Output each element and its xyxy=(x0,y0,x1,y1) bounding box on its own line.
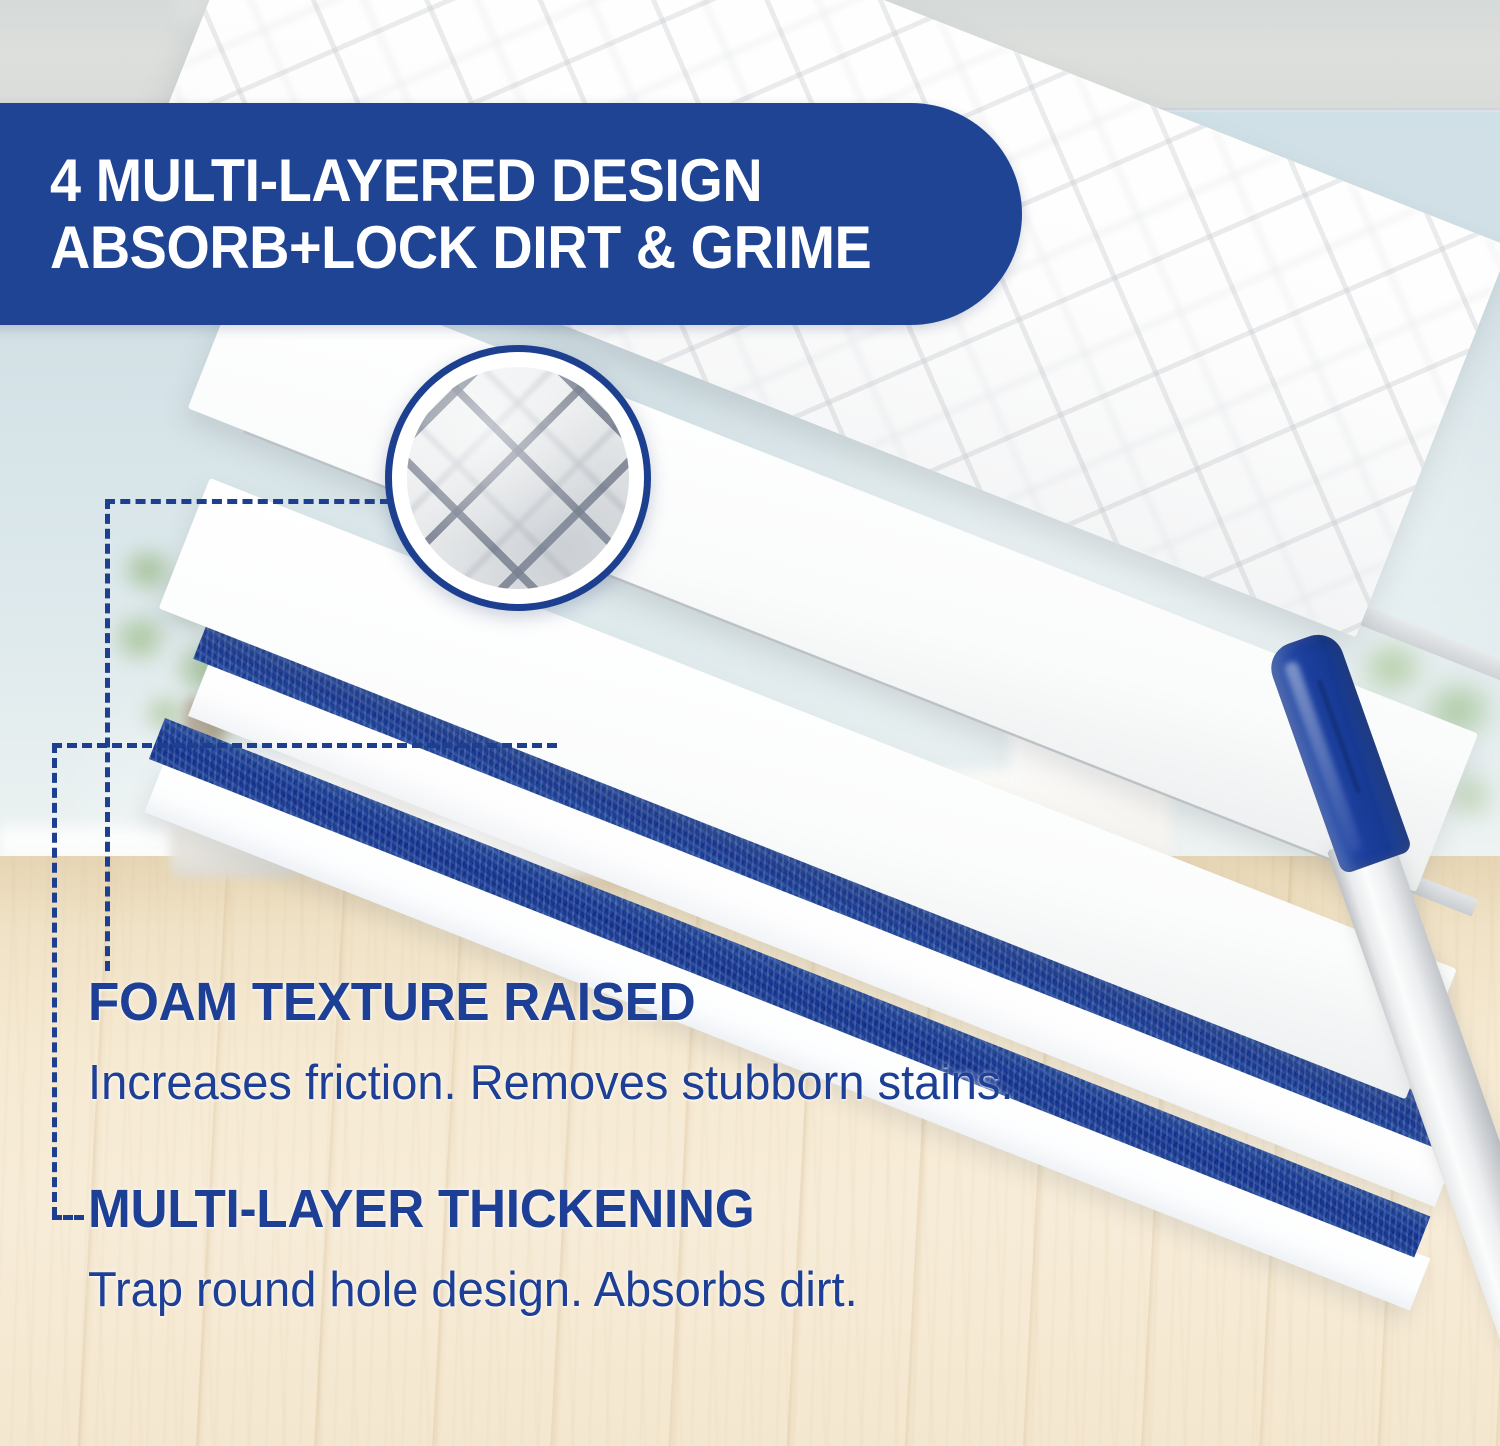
product-feature-graphic: 4 MULTI-LAYERED DESIGN ABSORB+LOCK DIRT … xyxy=(0,0,1500,1446)
magnifier-shading xyxy=(407,367,629,589)
headline-line-2: ABSORB+LOCK DIRT & GRIME xyxy=(50,214,871,281)
callout-upper-horizontal xyxy=(105,499,390,504)
magnifier-ring xyxy=(385,345,651,611)
headline-banner-text: 4 MULTI-LAYERED DESIGN ABSORB+LOCK DIRT … xyxy=(50,147,871,281)
feature-2-title: MULTI-LAYER THICKENING xyxy=(88,1182,850,1236)
callout-lower-vertical xyxy=(52,743,57,1217)
magnifier-lens xyxy=(407,367,629,589)
headline-banner: 4 MULTI-LAYERED DESIGN ABSORB+LOCK DIRT … xyxy=(0,103,1022,325)
headline-line-1: 4 MULTI-LAYERED DESIGN xyxy=(50,147,871,214)
feature-block-foam-texture: FOAM TEXTURE RAISED Increases friction. … xyxy=(88,975,1052,1108)
feature-1-title: FOAM TEXTURE RAISED xyxy=(88,975,1004,1029)
foam-texture-magnifier xyxy=(385,345,651,611)
feature-2-subtitle: Trap round hole design. Absorbs dirt. xyxy=(88,1266,858,1315)
callout-upper-vertical xyxy=(105,499,110,971)
callout-lower-stub xyxy=(52,1215,84,1220)
callout-lower-horizontal xyxy=(52,743,557,748)
feature-1-subtitle: Increases friction. Removes stubborn sta… xyxy=(88,1059,1014,1108)
feature-block-multi-layer: MULTI-LAYER THICKENING Trap round hole d… xyxy=(88,1182,890,1315)
